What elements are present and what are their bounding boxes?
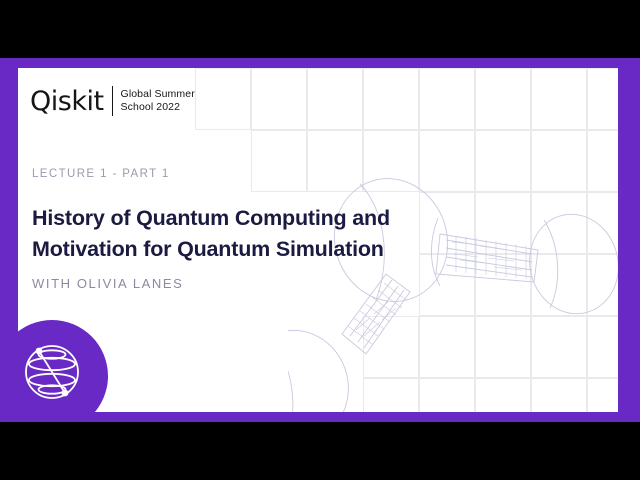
- logo-subtitle-line1: Global Summer: [121, 88, 195, 101]
- slide-purple-frame: Qiskit Global Summer School 2022 LECTURE…: [0, 58, 640, 422]
- grid-cell: [363, 378, 419, 412]
- letterbox-top: [0, 0, 640, 58]
- grid-cell: [363, 68, 419, 130]
- presenter-credit: WITH OLIVIA LANES: [32, 276, 183, 291]
- slide-title-line2: Motivation for Quantum Simulation: [32, 234, 462, 265]
- video-frame: Qiskit Global Summer School 2022 LECTURE…: [0, 0, 640, 480]
- grid-cell: [475, 254, 531, 316]
- grid-cell: [587, 254, 618, 316]
- grid-cell: [419, 130, 475, 192]
- grid-cell: [363, 316, 419, 378]
- grid-cell: [587, 378, 618, 412]
- grid-cell: [363, 130, 419, 192]
- lecture-eyebrow-label: LECTURE 1 - PART 1: [32, 168, 170, 180]
- grid-cell: [195, 68, 251, 130]
- grid-cell: [251, 130, 307, 192]
- grid-cell: [475, 192, 531, 254]
- qiskit-wordmark: Qiskit: [30, 88, 104, 115]
- logo-subtitle-line2: School 2022: [121, 101, 195, 114]
- grid-cell: [419, 68, 475, 130]
- grid-cell: [475, 316, 531, 378]
- grid-cell: [475, 68, 531, 130]
- grid-cell: [587, 68, 618, 130]
- grid-cell: [587, 316, 618, 378]
- grid-cell: [251, 68, 307, 130]
- grid-cell: [475, 130, 531, 192]
- grid-cell: [587, 192, 618, 254]
- qiskit-logo-lockup: Qiskit Global Summer School 2022: [30, 86, 195, 116]
- grid-cell: [587, 130, 618, 192]
- ibm-quantum-globe-badge: [18, 320, 108, 412]
- slide-title-line1: History of Quantum Computing and: [32, 203, 462, 234]
- grid-cell: [531, 316, 587, 378]
- logo-divider: [112, 86, 113, 116]
- grid-cell: [531, 192, 587, 254]
- ibm-quantum-globe-icon: [22, 342, 82, 402]
- grid-cell: [531, 68, 587, 130]
- grid-cell: [475, 378, 531, 412]
- grid-cell: [419, 316, 475, 378]
- grid-cell: [307, 130, 363, 192]
- slide-card: Qiskit Global Summer School 2022 LECTURE…: [18, 68, 618, 412]
- grid-cell: [307, 68, 363, 130]
- slide-title: History of Quantum Computing and Motivat…: [32, 203, 462, 265]
- grid-cell: [531, 254, 587, 316]
- grid-cell: [419, 378, 475, 412]
- grid-cell: [531, 378, 587, 412]
- grid-cell: [531, 130, 587, 192]
- logo-subtitle: Global Summer School 2022: [121, 88, 195, 114]
- letterbox-bottom: [0, 422, 640, 480]
